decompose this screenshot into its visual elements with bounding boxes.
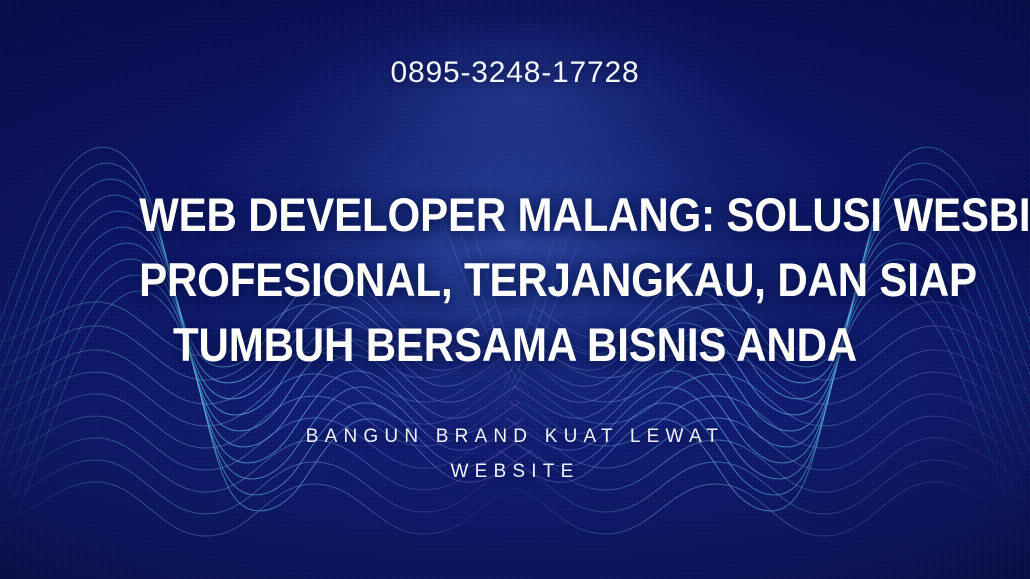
- headline-line-3: TUMBUH BERSAMA BISNIS ANDA: [139, 312, 891, 377]
- subheadline: BANGUN BRAND KUAT LEWAT WEBSITE: [195, 419, 835, 489]
- banner-content: 0895-3248-17728 WEB DEVELOPER MALANG: SO…: [0, 0, 1030, 579]
- phone-number: 0895-3248-17728: [391, 56, 640, 90]
- headline-line-2: PROFESIONAL, TERJANGKAU, DAN SIAP: [139, 247, 891, 312]
- subheadline-line-1: BANGUN BRAND KUAT LEWAT: [195, 419, 835, 454]
- promotional-banner: 0895-3248-17728 WEB DEVELOPER MALANG: SO…: [0, 0, 1030, 579]
- headline: WEB DEVELOPER MALANG: SOLUSI WESBITE PRO…: [139, 182, 891, 377]
- headline-line-1: WEB DEVELOPER MALANG: SOLUSI WESBITE: [139, 182, 891, 247]
- subheadline-line-2: WEBSITE: [195, 454, 835, 489]
